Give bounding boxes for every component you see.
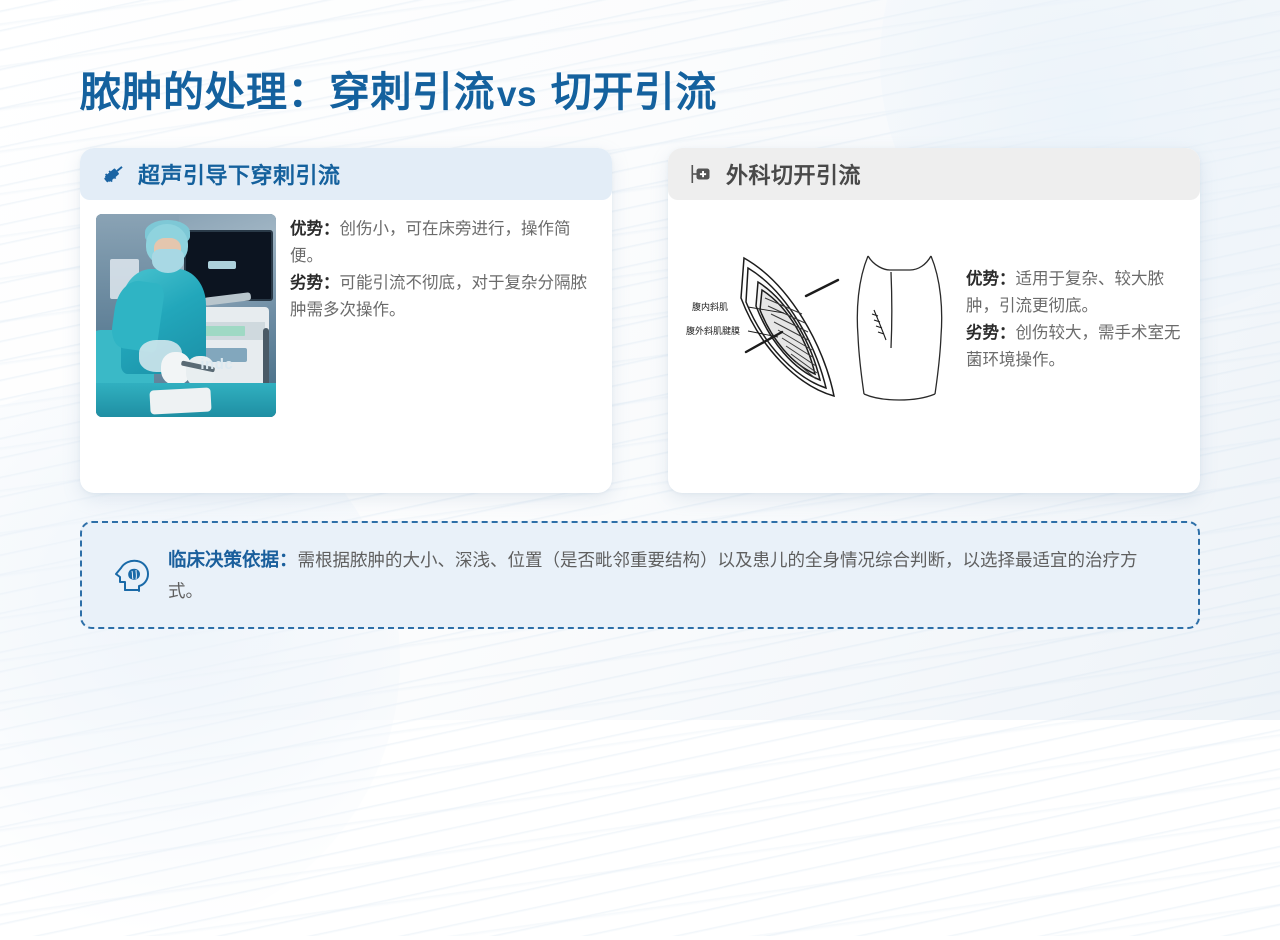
disadvantage-line: 劣势：可能引流不彻底，对于复杂分隔脓肿需多次操作。 — [290, 270, 596, 323]
advantage-label: 优势： — [290, 220, 340, 238]
card-header-puncture: 超声引导下穿刺引流 — [80, 148, 612, 200]
figure-label-1: 腹内斜肌 — [692, 301, 728, 312]
card-incision-drainage[interactable]: 外科切开引流 — [668, 148, 1200, 493]
card-header-title: 外科切开引流 — [726, 158, 861, 190]
syringe-icon — [98, 159, 128, 189]
card-puncture-drainage[interactable]: 超声引导下穿刺引流 indc — [80, 148, 612, 493]
photo-equipment-label: indc — [200, 356, 233, 373]
advantage-label: 优势： — [966, 270, 1016, 288]
advantage-line: 优势：适用于复杂、较大脓肿，引流更彻底。 — [966, 266, 1184, 319]
page-title-main: 脓肿的处理：穿刺引流 — [80, 69, 495, 115]
clinical-decision-label: 临床决策依据： — [168, 549, 298, 570]
scalpel-plus-icon — [686, 159, 716, 189]
incision-anatomy-figure: 腹内斜肌 腹外斜肌腱膜 — [686, 236, 956, 421]
figure-label-2: 腹外斜肌腱膜 — [686, 325, 740, 336]
puncture-procedure-photo: indc — [96, 214, 276, 417]
page-title-tail: 切开引流 — [551, 69, 717, 115]
clinical-decision-callout: 临床决策依据：需根据脓肿的大小、深浅、位置（是否毗邻重要结构）以及患儿的全身情况… — [80, 521, 1200, 629]
advantage-line: 优势：创伤小，可在床旁进行，操作简便。 — [290, 216, 596, 269]
page-title: 脓肿的处理：穿刺引流vs 切开引流 — [80, 58, 717, 118]
head-brain-icon — [108, 552, 154, 598]
card-body-puncture: indc 优势：创伤小，可在床旁进行，操作简便。 劣势：可能引流不彻底，对于复杂… — [80, 200, 612, 417]
disadvantage-label: 劣势： — [290, 274, 340, 292]
page-title-vs: vs — [495, 75, 539, 114]
disadvantage-line: 劣势：创伤较大，需手术室无菌环境操作。 — [966, 320, 1184, 373]
disadvantage-label: 劣势： — [966, 324, 1016, 342]
card-text-incision: 优势：适用于复杂、较大脓肿，引流更彻底。 劣势：创伤较大，需手术室无菌环境操作。 — [956, 214, 1184, 421]
card-text-puncture: 优势：创伤小，可在床旁进行，操作简便。 劣势：可能引流不彻底，对于复杂分隔脓肿需… — [276, 214, 596, 417]
card-body-incision: 腹内斜肌 腹外斜肌腱膜 优势：适用于复杂、较大脓肿，引流更彻底。 劣势：创伤较大… — [668, 200, 1200, 421]
clinical-decision-text: 临床决策依据：需根据脓肿的大小、深浅、位置（是否毗邻重要结构）以及患儿的全身情况… — [168, 544, 1172, 607]
card-header-title: 超声引导下穿刺引流 — [138, 158, 341, 190]
card-header-incision: 外科切开引流 — [668, 148, 1200, 200]
clinical-decision-body: 需根据脓肿的大小、深浅、位置（是否毗邻重要结构）以及患儿的全身情况综合判断，以选… — [168, 550, 1138, 601]
